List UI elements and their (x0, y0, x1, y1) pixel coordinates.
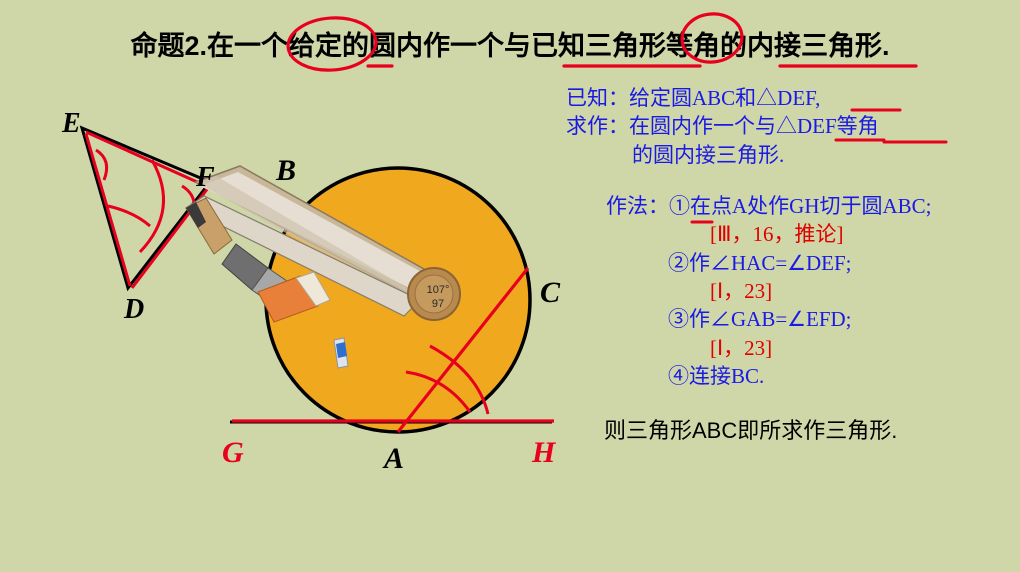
method-step-3: ③作∠GAB=∠EFD; (668, 305, 932, 333)
conclusion-text: 则三角形ABC即所求作三角形. (604, 416, 897, 446)
method-step-4: ④连接BC. (668, 362, 932, 390)
method-label: 作法： (606, 194, 669, 218)
method-ref-1: [Ⅲ，16，推论] (710, 220, 932, 248)
method-step-1: ①在点A处作GH切于圆ABC; (669, 194, 932, 218)
method-ref-3: [Ⅰ，23] (710, 334, 932, 362)
slide-canvas: 命题2.在一个给定的圆内作一个与已知三角形等角的内接三角形. (0, 0, 1020, 572)
method-ref-2: [Ⅰ，23] (710, 277, 932, 305)
method-step-2: ②作∠HAC=∠DEF; (668, 249, 932, 277)
method-line-1: 作法：①在点A处作GH切于圆ABC; (606, 192, 932, 220)
method-block: 作法：①在点A处作GH切于圆ABC; [Ⅲ，16，推论] ②作∠HAC=∠DEF… (606, 192, 932, 390)
